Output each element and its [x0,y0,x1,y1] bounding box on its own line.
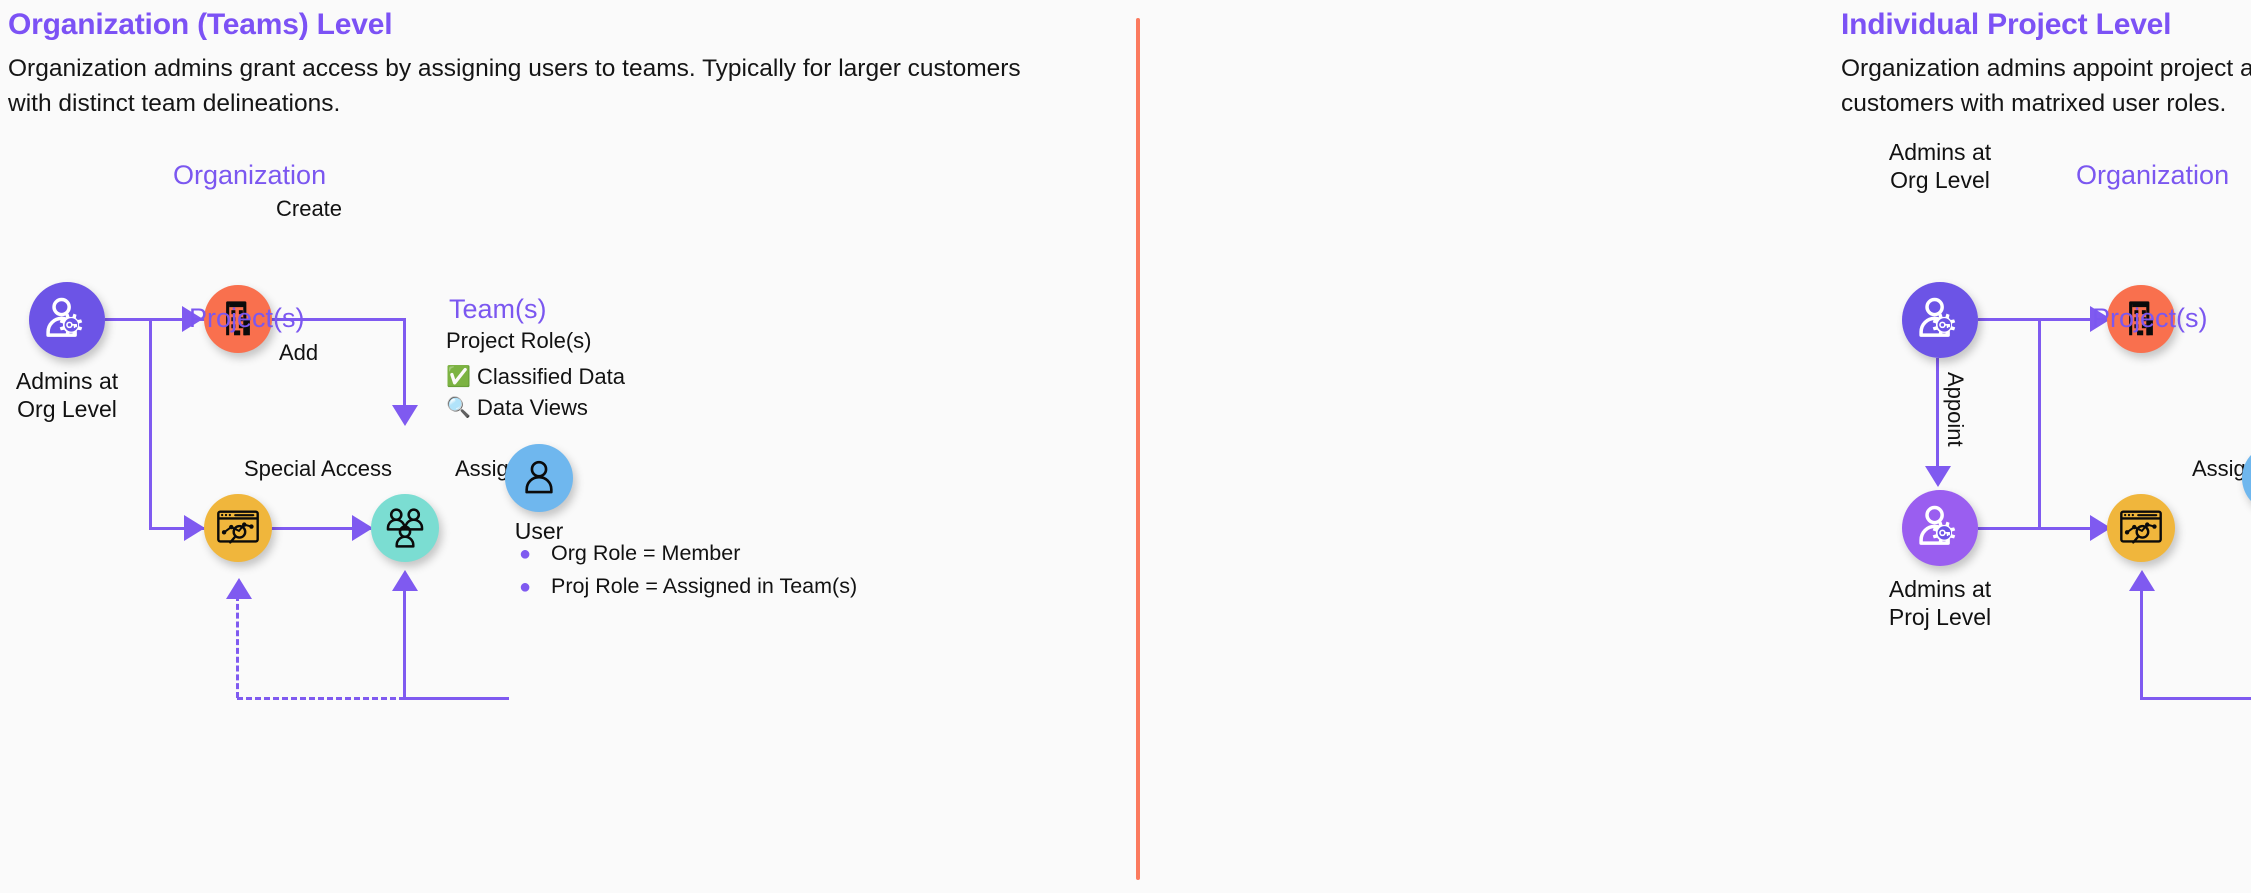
panel-description-right: Organization admins appoint project admi… [1841,52,2251,122]
admin-key-icon [1913,293,1967,347]
role-label-data-views: Data Views [477,395,588,421]
team-people-icon [382,505,428,551]
bullet-text-proj-role: Proj Role = Assigned in Team(s) [551,574,857,599]
node-projects-right[interactable] [2107,494,2175,562]
node-admins-at-org-level[interactable] [29,282,105,358]
bullet-proj-role: ● Proj Role = Assigned in Team(s) [519,574,857,599]
label-projects-right: Project(s) [2092,303,2208,334]
panel-individual-project-level: Individual Project Level Organization ad… [1137,0,2251,893]
node-user-right[interactable] [2242,444,2251,512]
node-teams[interactable] [371,494,439,562]
bullet-org-role: ● Org Role = Member [519,541,857,566]
bullet-dot-icon: ● [519,576,551,599]
caption-admins-at-org-level-right: Admins at Org Level [1873,138,2007,195]
edge-trunk-vertical-right [2038,318,2041,527]
panel-title-right: Individual Project Level [1841,8,2171,42]
arrowhead-user-to-project [2129,570,2155,591]
caption-user-right: User [2221,517,2251,545]
panel-title-left: Organization (Teams) Level [8,8,392,42]
magnifier-icon: 🔍 [446,398,468,418]
user-person-icon [517,456,561,500]
arrowhead-user-to-team [392,570,418,591]
label-organization-right: Organization [2076,160,2229,191]
roles-title-teams: Project Role(s) [446,328,625,354]
edge-user-to-team-horizontal [403,697,509,700]
edge-trunk-vertical-left [149,318,152,529]
panel-description-left: Organization admins grant access by assi… [8,52,1068,122]
edge-label-appoint: Appoint [1942,368,1968,451]
node-admins-at-org-level-right[interactable] [1902,282,1978,358]
edge-user-to-project-horizontal [2140,697,2251,700]
arrowhead-project-to-team [352,515,373,541]
arrowhead-appoint [1925,466,1951,487]
project-analytics-icon [2117,504,2165,552]
role-item-data-views: 🔍 Data Views [446,395,625,421]
arrowhead-to-project [184,515,205,541]
node-admins-at-proj-level[interactable] [1902,490,1978,566]
caption-admins-at-proj-level: Admins at Proj Level [1873,575,2007,632]
edge-label-create: Create [272,196,346,222]
label-projects: Project(s) [189,303,305,334]
node-projects[interactable] [204,494,272,562]
bullet-dot-icon: ● [519,543,551,566]
check-box-icon: ✅ [446,367,468,387]
admin-key-icon [40,293,94,347]
project-analytics-icon [214,504,262,552]
edge-special-access-horizontal [237,697,405,700]
label-organization: Organization [173,160,326,191]
admin-key-icon [1913,501,1967,555]
edge-label-add: Add [275,340,322,366]
arrowhead-org-to-team [392,405,418,426]
arrowhead-special-access [226,578,252,599]
panel-organization-teams-level: Organization (Teams) Level Organization … [0,0,1137,893]
node-user[interactable] [505,444,573,512]
bullet-text-org-role: Org Role = Member [551,541,740,566]
edge-admins-to-org [105,318,181,321]
caption-admins-at-org-level: Admins at Org Level [0,367,134,424]
role-item-classified-data: ✅ Classified Data [446,364,625,390]
label-teams: Team(s) [449,294,547,325]
edge-user-to-project-vertical [2140,585,2143,698]
bullets-user-roles: ● Org Role = Member ● Proj Role = Assign… [519,541,857,607]
edge-user-to-team-vertical [403,585,406,698]
edge-label-special-access: Special Access [240,456,396,482]
edge-appoint-vertical [1936,358,1939,473]
roles-block-teams: Project Role(s) ✅ Classified Data 🔍 Data… [446,328,625,426]
edge-org-to-team-vertical [403,318,406,410]
role-label-classified-data: Classified Data [477,364,625,390]
diagram-canvas: Organization (Teams) Level Organization … [0,0,2251,893]
edge-special-access-vertical [236,595,239,698]
